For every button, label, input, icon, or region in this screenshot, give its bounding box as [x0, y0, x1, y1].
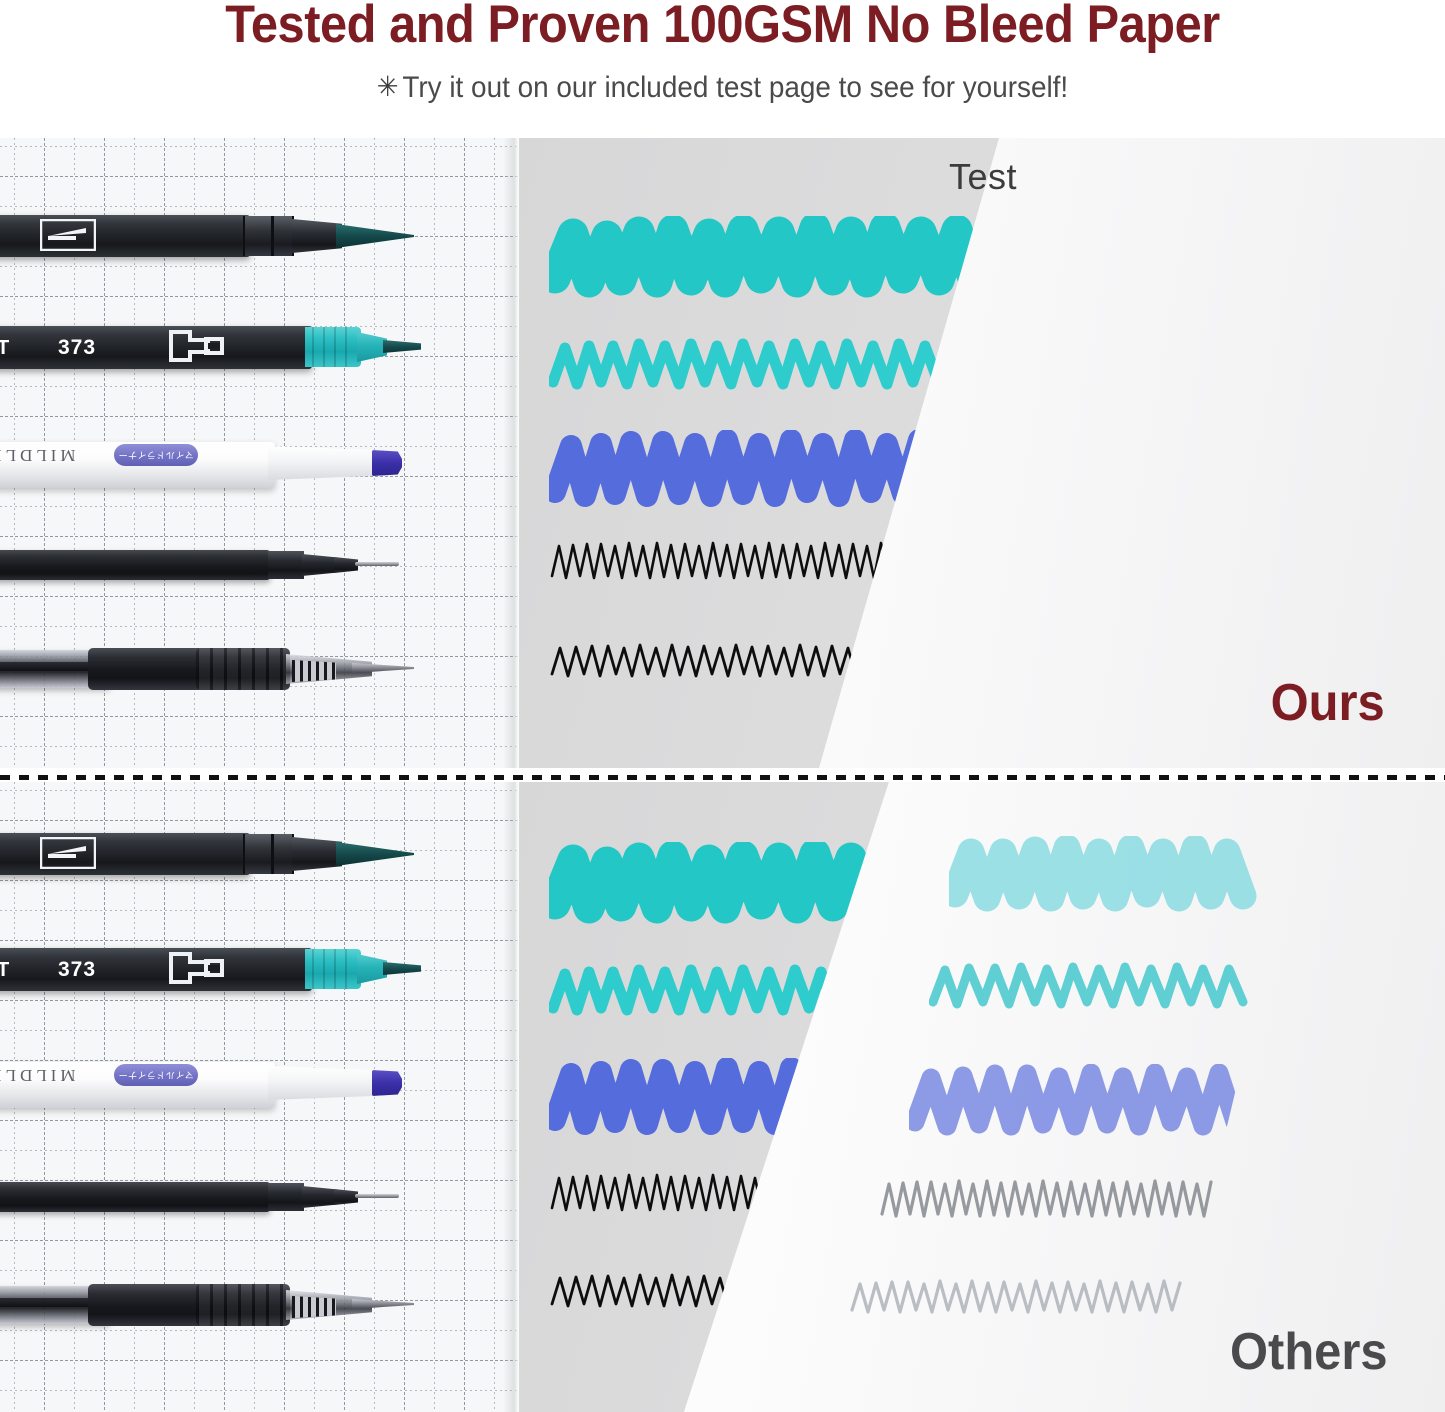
pen-model-number: 373 — [58, 336, 96, 360]
mildliner-badge: マイルドライナー — [114, 444, 198, 466]
fineliner-needle-tip — [355, 562, 399, 566]
blue-highlighter-bleed-swatch — [909, 1064, 1259, 1144]
bullet-tip-icon — [168, 330, 224, 362]
mildliner-badge-text: マイルドライナー — [114, 444, 198, 466]
turquoise-marker-swatch — [549, 334, 979, 400]
pen-dual-tip-marker: T 373 — [0, 318, 430, 378]
pen-gel-pen — [0, 638, 430, 702]
pen-dual-brush-pen — [0, 206, 430, 266]
mildliner-brand-text: MILDLI — [0, 1065, 75, 1085]
mildliner-badge-text: マイルドライナー — [114, 1064, 198, 1086]
pen-model-number: 373 — [58, 958, 96, 982]
brush-tip-icon — [40, 219, 96, 251]
marker-ink-tip — [383, 962, 421, 975]
sparkle-icon: ✳ — [377, 70, 399, 103]
mildliner-ink-tip — [372, 450, 402, 476]
pen-dual-brush-pen — [0, 824, 430, 884]
turquoise-brush-bleed-swatch — [949, 836, 1269, 920]
panel-divider — [0, 775, 1445, 780]
panel-label-others: Others — [1230, 1322, 1388, 1382]
grid-paper-edge — [503, 782, 519, 1412]
mildliner-badge: マイルドライナー — [114, 1064, 198, 1086]
pen-prefix-letter: T — [0, 959, 9, 982]
black-gelpen-bleed-swatch — [849, 1274, 1189, 1324]
pen-mildliner-highlighter: MILDLI マイルドライナー — [0, 430, 430, 490]
page-title: Tested and Proven 100GSM No Bleed Paper — [58, 0, 1387, 52]
panel-label-ours: Ours — [1271, 673, 1385, 733]
mildliner-brand-text: MILDLI — [0, 445, 75, 465]
pen-prefix-letter: T — [0, 337, 9, 360]
brush-tip-icon — [40, 837, 96, 869]
comparison-panel-others: T 373 MILDLI マイルドライナー — [0, 782, 1445, 1412]
pen-fineliner — [0, 1170, 430, 1224]
promo-header: Tested and Proven 100GSM No Bleed Paper … — [0, 0, 1445, 132]
pen-dual-tip-marker: T 373 — [0, 940, 430, 1000]
mildliner-ink-tip — [372, 1070, 402, 1096]
page-subtitle-text: Try it out on our included test page to … — [402, 71, 1068, 104]
marker-ink-tip — [383, 340, 421, 353]
pen-mildliner-highlighter: MILDLI マイルドライナー — [0, 1050, 430, 1110]
turquoise-marker-bleed-swatch — [929, 958, 1259, 1018]
pen-fineliner — [0, 538, 430, 592]
pen-gel-pen — [0, 1274, 430, 1338]
brush-ink-tip — [336, 842, 414, 866]
page-subtitle: ✳Try it out on our included test page to… — [51, 70, 1395, 105]
fineliner-needle-tip — [355, 1194, 399, 1198]
test-page-ours: Test — [519, 138, 1445, 768]
turquoise-brush-swatch — [549, 216, 989, 308]
test-page-others: Others — [519, 782, 1445, 1412]
bullet-tip-icon — [168, 952, 224, 984]
black-fineliner-bleed-swatch — [879, 1174, 1219, 1228]
grid-paper-edge — [503, 138, 519, 768]
comparison-panel-ours: T 373 MILDLI マイルドライナー — [0, 138, 1445, 768]
brush-ink-tip — [336, 224, 414, 248]
